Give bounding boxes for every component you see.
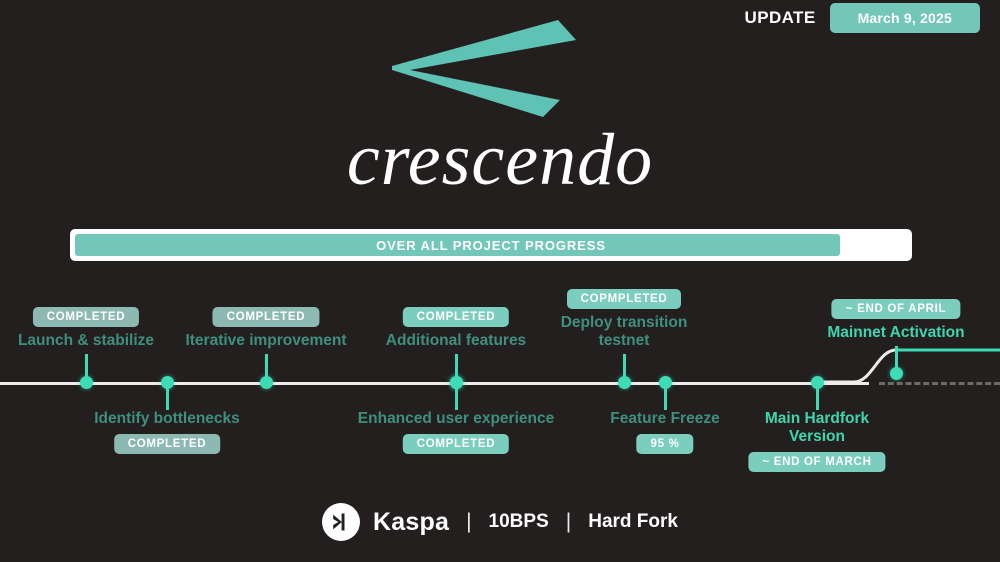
footer-bar: Kaspa | 10BPS | Hard Fork: [0, 503, 1000, 541]
roadmap-timeline: COMPLETEDLaunch & stabilizeIdentify bott…: [0, 276, 1000, 476]
footer-separator-2: |: [562, 510, 575, 534]
timeline-node-content: COPMPLETEDDeploy transition testnet: [559, 289, 689, 350]
milestone-label: Deploy transition testnet: [559, 314, 689, 350]
timeline-node-content: Main Hardfork Version~ END OF MARCH: [748, 410, 885, 472]
timeline-node-content: COMPLETEDIterative improvement: [185, 307, 346, 350]
timeline-stem: [664, 382, 667, 410]
kaspa-k-icon: [322, 503, 360, 541]
timeline-stem: [166, 382, 169, 410]
milestone-label: Mainnet Activation: [827, 324, 964, 342]
footer-item-bps: 10BPS: [489, 511, 549, 533]
milestone-label: Enhanced user experience: [358, 410, 554, 428]
timeline-stem: [85, 354, 88, 382]
footer-separator-1: |: [462, 510, 475, 534]
timeline-node-content: Feature Freeze95 %: [610, 410, 719, 454]
footer-item-hardfork: Hard Fork: [588, 511, 678, 533]
milestone-label: Iterative improvement: [185, 332, 346, 350]
status-badge: COMPLETED: [33, 307, 140, 327]
milestone-label: Main Hardfork Version: [757, 410, 877, 446]
status-badge: ~ END OF MARCH: [748, 452, 885, 472]
milestone-label: Feature Freeze: [610, 410, 719, 428]
status-badge: COMPLETED: [403, 307, 510, 327]
chevron-left-mark-icon: [388, 18, 588, 118]
status-badge: COMPLETED: [114, 434, 221, 454]
status-badge: COPMPLETED: [567, 289, 682, 309]
status-badge: ~ END OF APRIL: [832, 299, 960, 319]
page-title: crescendo: [0, 118, 1000, 203]
update-row: UPDATE March 9, 2025: [745, 3, 980, 33]
timeline-rise-curve: [820, 336, 1000, 396]
timeline-node-content: COMPLETEDAdditional features: [386, 307, 526, 350]
milestone-label: Identify bottlenecks: [94, 410, 240, 428]
milestone-label: Launch & stabilize: [18, 332, 154, 350]
overall-progress-bar: OVER ALL PROJECT PROGRESS: [70, 229, 912, 261]
timeline-baseline: [0, 382, 869, 385]
timeline-node-content: ~ END OF APRILMainnet Activation: [827, 299, 964, 342]
update-date-badge: March 9, 2025: [830, 3, 980, 33]
status-badge: 95 %: [636, 434, 693, 454]
timeline-node-content: Identify bottlenecksCOMPLETED: [94, 410, 240, 454]
timeline-stem: [623, 354, 626, 382]
timeline-stem: [816, 382, 819, 410]
status-badge: COMPLETED: [403, 434, 510, 454]
timeline-node-content: COMPLETEDLaunch & stabilize: [18, 307, 154, 350]
milestone-label: Additional features: [386, 332, 526, 350]
progress-label: OVER ALL PROJECT PROGRESS: [70, 229, 912, 261]
timeline-stem: [455, 354, 458, 382]
update-label: UPDATE: [745, 8, 816, 28]
kaspa-brand-label: Kaspa: [373, 508, 449, 537]
timeline-node-content: Enhanced user experienceCOMPLETED: [358, 410, 554, 454]
timeline-stem: [895, 346, 898, 373]
timeline-stem: [265, 354, 268, 382]
status-badge: COMPLETED: [213, 307, 320, 327]
